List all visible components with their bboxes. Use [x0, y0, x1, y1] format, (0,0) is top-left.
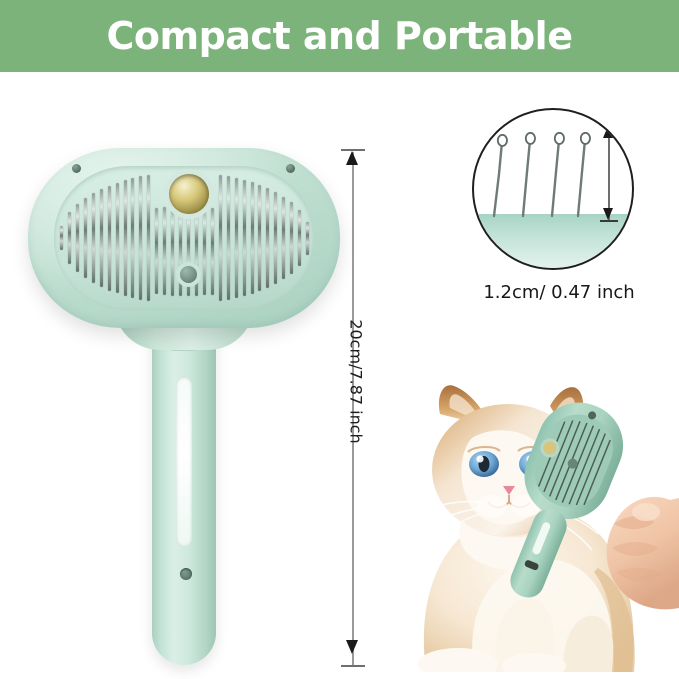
overall-dimension-line: 20cm/7.87 inch [330, 140, 378, 675]
brush-pin [195, 206, 198, 296]
brush-head [28, 148, 340, 328]
overall-dimension-label: 20cm/7.87 inch [347, 312, 366, 452]
brush-pin [306, 222, 309, 255]
banner-title: Compact and Portable [107, 14, 573, 58]
brush-pin [131, 178, 134, 298]
brush-pin [298, 210, 301, 266]
pin-detail-callout [472, 108, 634, 270]
cat-grooming-scene [388, 372, 679, 672]
detail-pin-4 [572, 132, 598, 218]
brush-pin [266, 188, 269, 288]
pin-dimension-arrow-down-icon [603, 208, 613, 220]
brush-pin [235, 178, 238, 299]
brush-pin [227, 176, 230, 300]
brush-pin [139, 176, 142, 299]
brush-pin [282, 197, 285, 280]
brush-pin [116, 183, 119, 294]
product-infographic: Compact and Portable DC-5V 2 [0, 0, 679, 679]
header-banner: Compact and Portable [0, 0, 679, 72]
brush-pin [84, 198, 87, 278]
dimension-arrow-down-icon [346, 640, 358, 654]
brush-pin [274, 192, 277, 284]
pin-dimension-line [596, 120, 622, 226]
brush-pin [108, 186, 111, 291]
brush-pin [179, 206, 182, 296]
led-indicator-slot [176, 377, 192, 547]
dimension-cap-bottom [341, 665, 365, 667]
pin-dimension-shaft [608, 126, 610, 221]
pin-dimension-arrow-up-icon [603, 126, 613, 138]
pin-dimension-cap-bottom [600, 220, 618, 222]
product-illustration: DC-5V [22, 140, 342, 670]
brush-pin [203, 207, 206, 296]
brush-pin [251, 182, 254, 294]
brush-pin [100, 189, 103, 287]
brush-pin [147, 175, 150, 301]
brush-pin [219, 175, 222, 302]
pin-dimension-label: 1.2cm/ 0.47 inch [464, 282, 654, 303]
brush-pin [290, 202, 293, 273]
brush-pin [155, 208, 158, 295]
brush-pin [92, 193, 95, 283]
detail-pin-3 [546, 132, 572, 218]
brush-pin [68, 212, 71, 263]
detail-pin-1 [490, 134, 516, 220]
brush-pin [163, 207, 166, 295]
brush-pin [211, 208, 214, 295]
brush-pin [258, 185, 261, 292]
center-stud-icon [180, 266, 197, 283]
detail-pin-2 [518, 132, 544, 218]
brush-handle: DC-5V [152, 315, 216, 665]
brush-pin [171, 206, 174, 295]
detail-circle-outline [472, 108, 634, 270]
hand-holding-brush-image [388, 372, 679, 672]
brush-pin [124, 180, 127, 296]
brush-pin [60, 226, 63, 249]
dimension-arrow-up-icon [346, 151, 358, 165]
lanyard-hole [180, 568, 192, 580]
power-button[interactable] [169, 174, 209, 214]
brush-pin [76, 204, 79, 272]
brush-pin [243, 180, 246, 297]
